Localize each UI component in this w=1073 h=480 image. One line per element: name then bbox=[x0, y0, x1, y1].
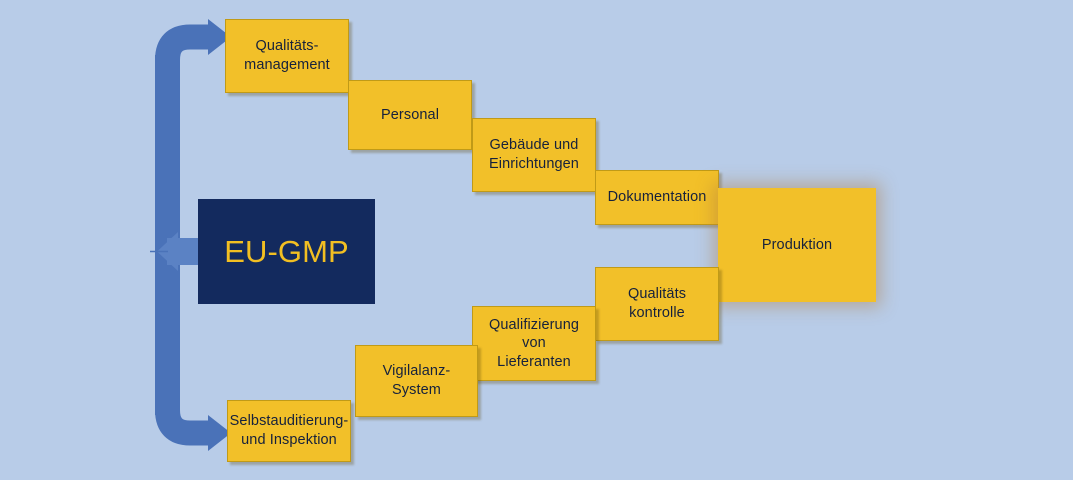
node-gebaeude-und-einrichtungen[interactable]: Gebäude und Einrichtungen bbox=[472, 118, 596, 192]
node-qualitaetskontrolle[interactable]: Qualitäts kontrolle bbox=[595, 267, 719, 341]
connector-bottom-elbow bbox=[168, 410, 214, 433]
node-personal[interactable]: Personal bbox=[348, 80, 472, 150]
node-produktion[interactable]: Produktion bbox=[718, 188, 876, 302]
node-qualitaetsmanagement[interactable]: Qualitäts- management bbox=[225, 19, 349, 93]
diagram-canvas: EU-GMP Qualitäts- management Personal Ge… bbox=[0, 0, 1073, 480]
core-node-eu-gmp[interactable]: EU-GMP bbox=[198, 199, 375, 304]
node-qualifizierung-von-lieferanten[interactable]: Qualifizierung von Lieferanten bbox=[472, 306, 596, 381]
connector-top-elbow bbox=[168, 37, 214, 60]
node-vigilalanz-system[interactable]: Vigilalanz- System bbox=[355, 345, 478, 417]
node-dokumentation[interactable]: Dokumentation bbox=[595, 170, 719, 225]
arrowhead-from-core bbox=[157, 232, 178, 271]
connector-layer bbox=[0, 0, 1073, 480]
node-selbstauditierung-und-inspektion[interactable]: Selbstauditierung- und Inspektion bbox=[227, 400, 351, 462]
